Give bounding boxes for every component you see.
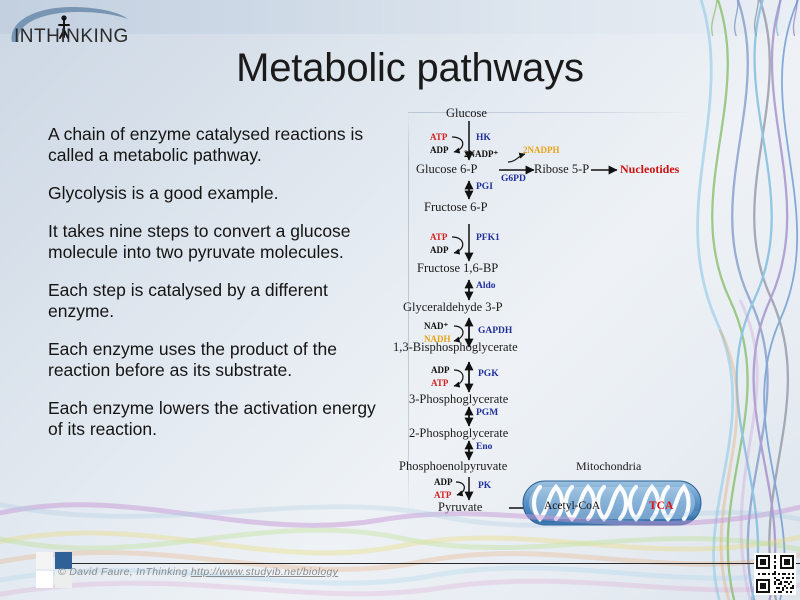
list-item: Glycolysis is a good example. [48, 183, 388, 204]
footer-copyright: © David Faure, InThinking [58, 566, 188, 578]
metabolite-glucose: Glucose [446, 106, 487, 121]
list-item: Each step is catalysed by a different en… [48, 280, 388, 322]
footer-divider [58, 563, 800, 564]
enzyme-hk: HK [476, 133, 491, 143]
enzyme-eno: Eno [476, 442, 492, 452]
enzyme-gapdh: GAPDH [478, 326, 512, 336]
cofactor-nadph-out: 2NADPH [523, 145, 560, 155]
footer-url[interactable]: http://www.studyib.net/biology [191, 566, 338, 578]
slide-canvas: INTHINKING Metabolic pathways A chain of… [0, 0, 800, 600]
metabolite-fructose-16bp: Fructose 1,6-BP [417, 261, 498, 276]
metabolite-glyceraldehyde-3p: Glyceraldehyde 3-P [403, 300, 503, 315]
cofactor-atp-pfk1: ATP [430, 232, 447, 242]
metabolite-glucose-6p: Glucose 6-P [416, 162, 477, 177]
cofactor-atp-pk: ATP [434, 490, 451, 500]
glycolysis-diagram: Glucose Glucose 6-P Fructose 6-P Fructos… [404, 104, 704, 529]
metabolite-2pg: 2-Phosphoglycerate [409, 426, 508, 441]
enzyme-pfk1: PFK1 [476, 233, 500, 243]
metabolite-3pg: 3-Phosphoglycerate [409, 392, 508, 407]
enzyme-pgi: PGI [476, 182, 493, 192]
cofactor-nadp-in: 2NADP⁺ [464, 149, 498, 160]
list-item: Each enzyme uses the product of the reac… [48, 339, 388, 381]
cofactor-nad-gapdh: NAD⁺ [424, 321, 448, 332]
product-nucleotides: Nucleotides [620, 162, 679, 177]
cofactor-adp-hk: ADP [430, 145, 449, 155]
cofactor-atp-hk: ATP [430, 132, 447, 142]
metabolite-fructose-6p: Fructose 6-P [424, 200, 488, 215]
metabolite-13bpg: 1,3-Bisphosphoglycerate [393, 340, 518, 355]
list-item: A chain of enzyme catalysed reactions is… [48, 124, 388, 166]
enzyme-pgk: PGK [478, 369, 499, 379]
footer-credit: © David Faure, InThinking http://www.stu… [58, 566, 338, 578]
enzyme-g6pd: G6PD [501, 174, 526, 184]
cofactor-adp-pgk: ADP [431, 365, 450, 375]
cofactor-nadh-gapdh: NADH [424, 334, 451, 344]
logo-wordmark: INTHINKING [14, 26, 129, 48]
metabolite-pyruvate: Pyruvate [438, 500, 482, 515]
enzyme-pgm: PGM [476, 408, 498, 418]
cofactor-adp-pk: ADP [434, 477, 453, 487]
qr-code-icon[interactable] [754, 553, 796, 595]
enzyme-pk: PK [478, 481, 491, 491]
acetyl-coa-label: Acetyl-CoA [544, 500, 600, 512]
tca-cycle-label: TCA [649, 500, 673, 512]
bullet-list: A chain of enzyme catalysed reactions is… [48, 124, 388, 457]
metabolite-ribose-5p: Ribose 5-P [534, 162, 589, 177]
enzyme-aldo: Aldo [476, 281, 496, 291]
cofactor-adp-pfk1: ADP [430, 245, 449, 255]
list-item: It takes nine steps to convert a glucose… [48, 221, 388, 263]
mitochondria-label: Mitochondria [576, 459, 641, 474]
list-item: Each enzyme lowers the activation energy… [48, 398, 388, 440]
page-title: Metabolic pathways [150, 46, 670, 91]
cofactor-atp-pgk: ATP [431, 378, 448, 388]
metabolite-pep: Phosphoenolpyruvate [399, 459, 507, 474]
